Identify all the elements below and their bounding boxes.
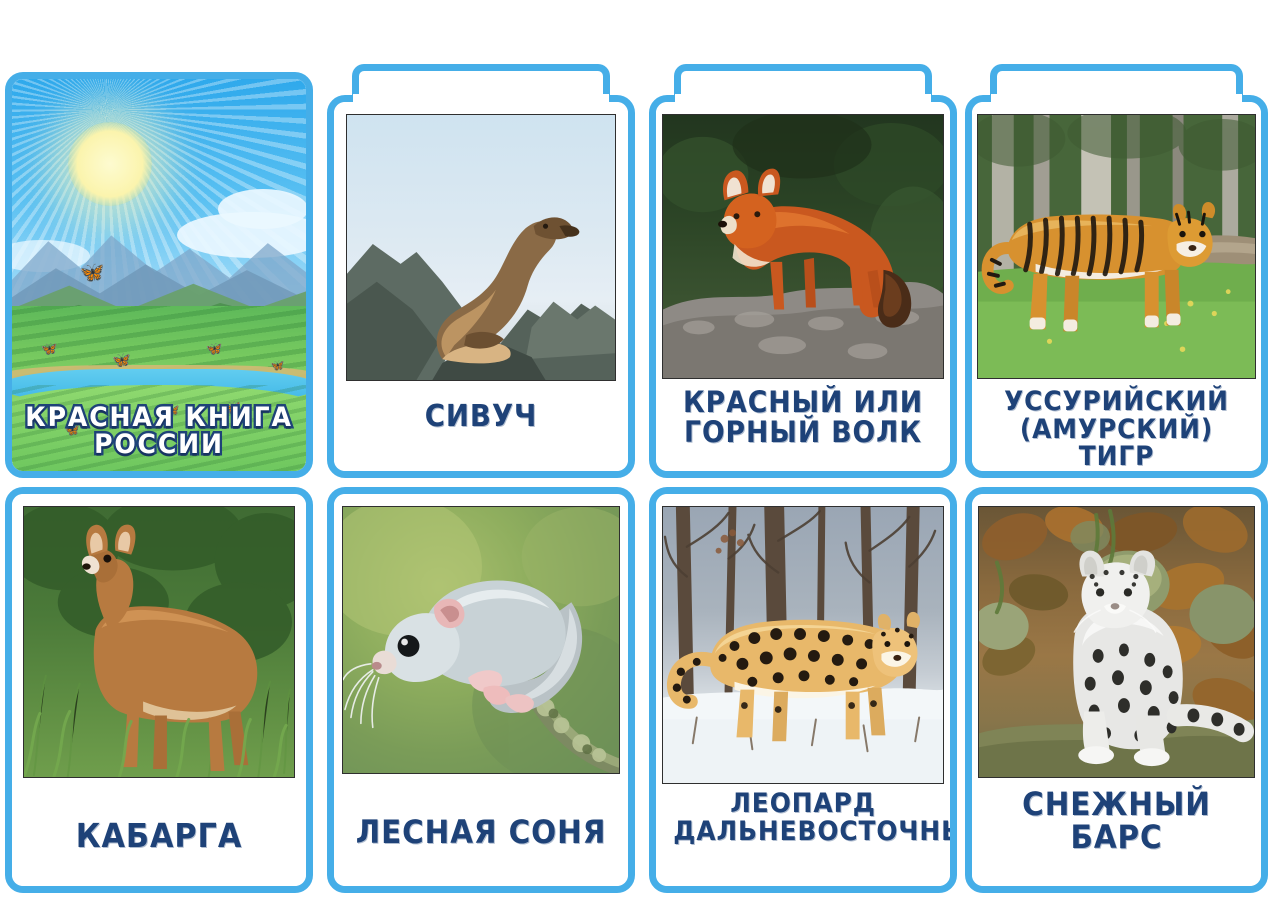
photo-kabarga xyxy=(23,506,295,778)
butterfly-icon: 🦋 xyxy=(41,342,57,355)
caption-line: ДАЛЬНЕВОСТОЧНЫЙ xyxy=(673,818,932,846)
photo-leopard xyxy=(662,506,944,784)
photo-snezhny-bars xyxy=(978,506,1255,778)
photo-lesnaya-sonya xyxy=(342,506,620,774)
card-title-krasnaya-kniga[interactable]: 🦋 🦋 🦋 🦋 🦋 🦋 🦋 🦋 🦋 КРАСНАЯ КНИГА РОССИИ xyxy=(5,72,313,478)
title-card-artwork: 🦋 🦋 🦋 🦋 🦋 🦋 🦋 🦋 🦋 КРАСНАЯ КНИГА РОССИИ xyxy=(12,79,306,471)
card-ussuriysky-tigr[interactable]: УССУРИЙСКИЙ (АМУРСКИЙ) ТИГР xyxy=(965,95,1268,478)
caption-line: СИВУЧ xyxy=(425,399,538,434)
caption-kabarga: КАБАРГА xyxy=(29,819,288,853)
flashcard-board: 🦋 🦋 🦋 🦋 🦋 🦋 🦋 🦋 🦋 КРАСНАЯ КНИГА РОССИИ xyxy=(0,0,1280,905)
caption-line: ГОРНЫЙ ВОЛК xyxy=(673,418,932,448)
photo-sivuch xyxy=(346,114,616,381)
scene-sea-lion xyxy=(347,115,615,380)
scene-amur-tiger xyxy=(978,115,1255,378)
title-line-2: РОССИИ xyxy=(22,431,295,459)
card-inner-sivuch: СИВУЧ xyxy=(334,102,628,471)
caption-line: (АМУРСКИЙ) ТИГР xyxy=(989,416,1244,471)
title-card-text: КРАСНАЯ КНИГА РОССИИ xyxy=(22,404,295,459)
caption-ussuriysky-tigr: УССУРИЙСКИЙ (АМУРСКИЙ) ТИГР xyxy=(989,388,1244,471)
card-snezhny-bars[interactable]: СНЕЖНЫЙ БАРС xyxy=(965,487,1268,893)
card-inner-leopard: ЛЕОПАРД ДАЛЬНЕВОСТОЧНЫЙ xyxy=(656,494,950,886)
caption-leopard: ЛЕОПАРД ДАЛЬНЕВОСТОЧНЫЙ xyxy=(673,790,932,845)
card-sivuch[interactable]: СИВУЧ xyxy=(327,95,635,478)
caption-krasny-volk: КРАСНЫЙ ИЛИ ГОРНЫЙ ВОЛК xyxy=(673,388,932,447)
butterfly-icon: 🦋 xyxy=(206,342,222,355)
card-inner-snezhny-bars: СНЕЖНЫЙ БАРС xyxy=(972,494,1261,886)
card-inner-lesnaya-sonya: ЛЕСНАЯ СОНЯ xyxy=(334,494,628,886)
tab-seam-mask xyxy=(991,94,1242,106)
scene-amur-leopard xyxy=(663,507,943,783)
caption-snezhny-bars: СНЕЖНЫЙ БАРС xyxy=(989,788,1244,853)
card-krasny-volk[interactable]: КРАСНЫЙ ИЛИ ГОРНЫЙ ВОЛК xyxy=(649,95,957,478)
caption-line: БАРС xyxy=(989,821,1244,854)
scene-dhole xyxy=(663,115,943,378)
tab-seam-mask xyxy=(353,94,609,106)
title-card-inner: 🦋 🦋 🦋 🦋 🦋 🦋 🦋 🦋 🦋 КРАСНАЯ КНИГА РОССИИ xyxy=(12,79,306,471)
card-inner-krasny-volk: КРАСНЫЙ ИЛИ ГОРНЫЙ ВОЛК xyxy=(656,102,950,471)
caption-line: КАБАРГА xyxy=(76,816,242,855)
scene-snow-leopard xyxy=(979,507,1254,777)
caption-line: УССУРИЙСКИЙ xyxy=(989,388,1244,416)
caption-sivuch: СИВУЧ xyxy=(351,402,610,433)
butterfly-icon: 🦋 xyxy=(112,353,131,368)
scene-musk-deer xyxy=(24,507,294,777)
caption-line: ЛЕОПАРД xyxy=(673,790,932,818)
card-inner-ussuriysky-tigr: УССУРИЙСКИЙ (АМУРСКИЙ) ТИГР xyxy=(972,102,1261,471)
scene-dormouse xyxy=(343,507,619,773)
photo-ussuriysky-tigr xyxy=(977,114,1256,379)
card-leopard[interactable]: ЛЕОПАРД ДАЛЬНЕВОСТОЧНЫЙ xyxy=(649,487,957,893)
butterfly-icon: 🦋 xyxy=(271,361,285,372)
tab-seam-mask xyxy=(675,94,931,106)
card-lesnaya-sonya[interactable]: ЛЕСНАЯ СОНЯ xyxy=(327,487,635,893)
card-kabarga[interactable]: КАБАРГА xyxy=(5,487,313,893)
caption-line: ЛЕСНАЯ СОНЯ xyxy=(356,813,607,851)
caption-line: СНЕЖНЫЙ xyxy=(989,788,1244,821)
card-inner-kabarga: КАБАРГА xyxy=(12,494,306,886)
photo-krasny-volk xyxy=(662,114,944,379)
butterfly-icon: 🦋 xyxy=(80,263,105,283)
caption-line: КРАСНЫЙ ИЛИ xyxy=(673,388,932,418)
title-line-1: КРАСНАЯ КНИГА xyxy=(22,404,295,432)
caption-lesnaya-sonya: ЛЕСНАЯ СОНЯ xyxy=(351,816,610,849)
